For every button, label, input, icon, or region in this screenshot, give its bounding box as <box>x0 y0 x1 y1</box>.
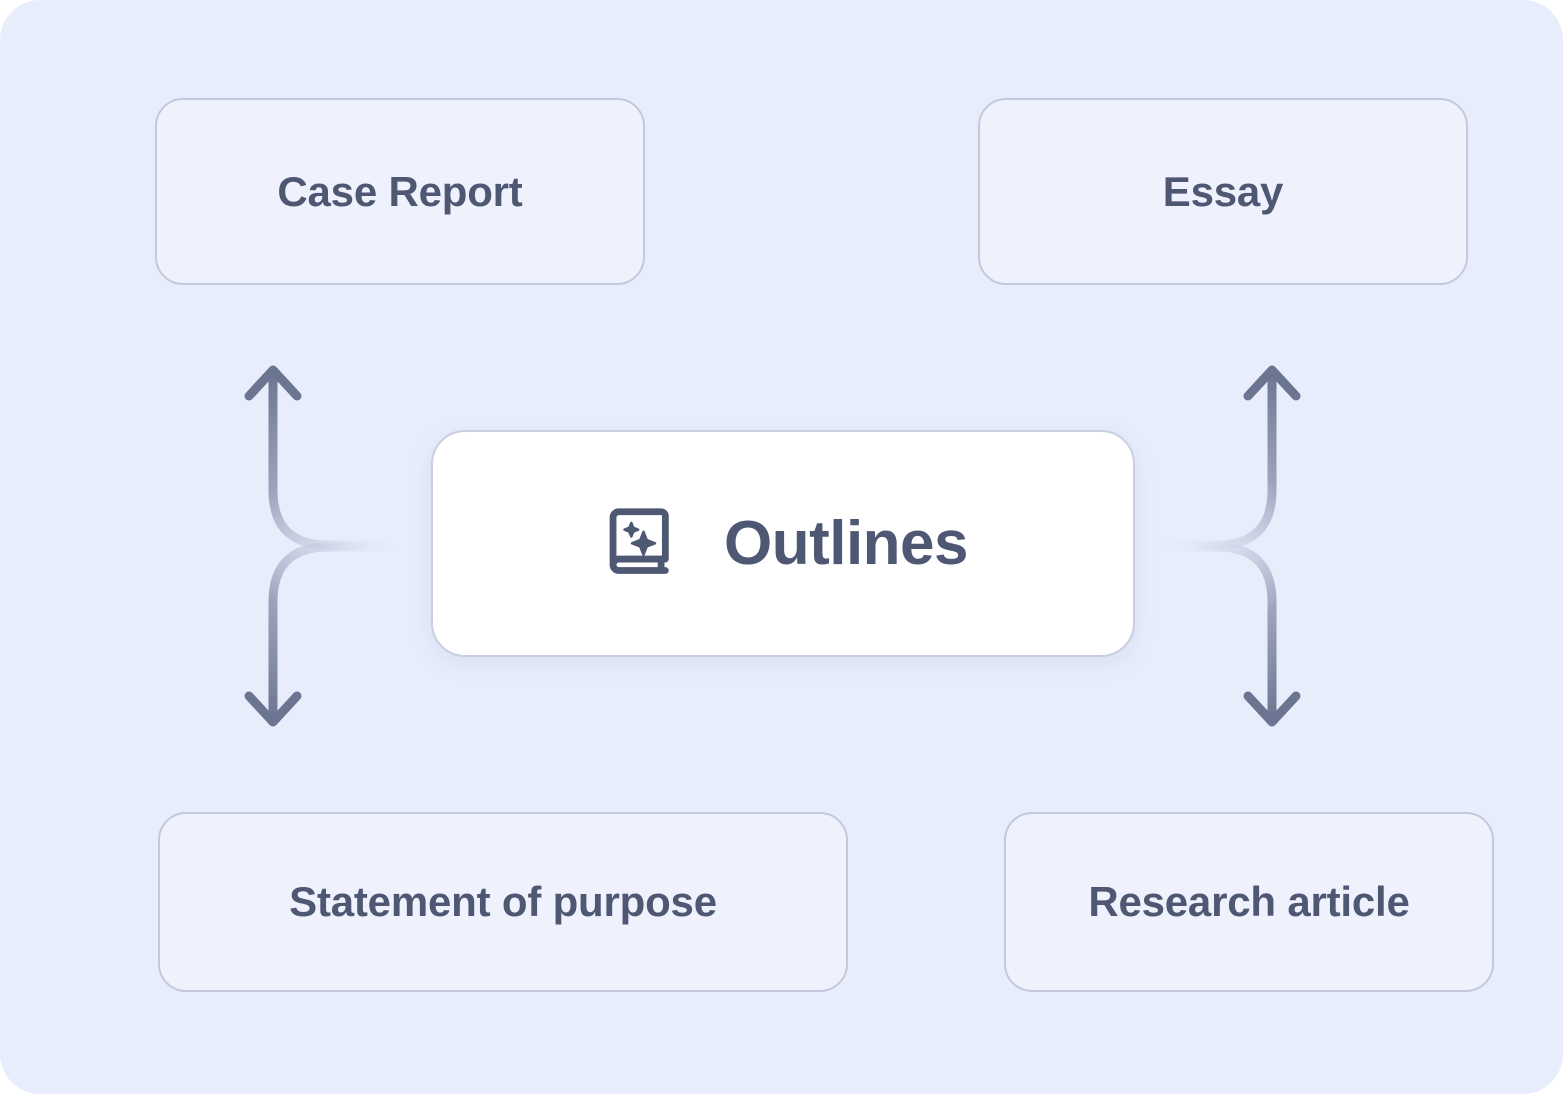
node-research-article-label: Research article <box>1088 881 1409 923</box>
node-outlines-hub[interactable]: Outlines <box>431 430 1135 657</box>
connector-left-down <box>249 547 430 722</box>
connector-right-up <box>1136 370 1296 545</box>
connector-left-up <box>249 370 430 545</box>
node-statement-of-purpose[interactable]: Statement of purpose <box>158 812 848 992</box>
node-statement-of-purpose-label: Statement of purpose <box>289 881 717 923</box>
node-outlines-label: Outlines <box>724 513 968 575</box>
connector-right-down <box>1136 547 1296 722</box>
diagram-canvas: Case Report Essay Statement of purpose R… <box>0 0 1563 1094</box>
node-research-article[interactable]: Research article <box>1004 812 1494 992</box>
book-sparkle-icon <box>598 501 684 587</box>
node-case-report[interactable]: Case Report <box>155 98 645 285</box>
node-essay-label: Essay <box>1163 171 1283 213</box>
node-essay[interactable]: Essay <box>978 98 1468 285</box>
node-case-report-label: Case Report <box>277 171 522 213</box>
